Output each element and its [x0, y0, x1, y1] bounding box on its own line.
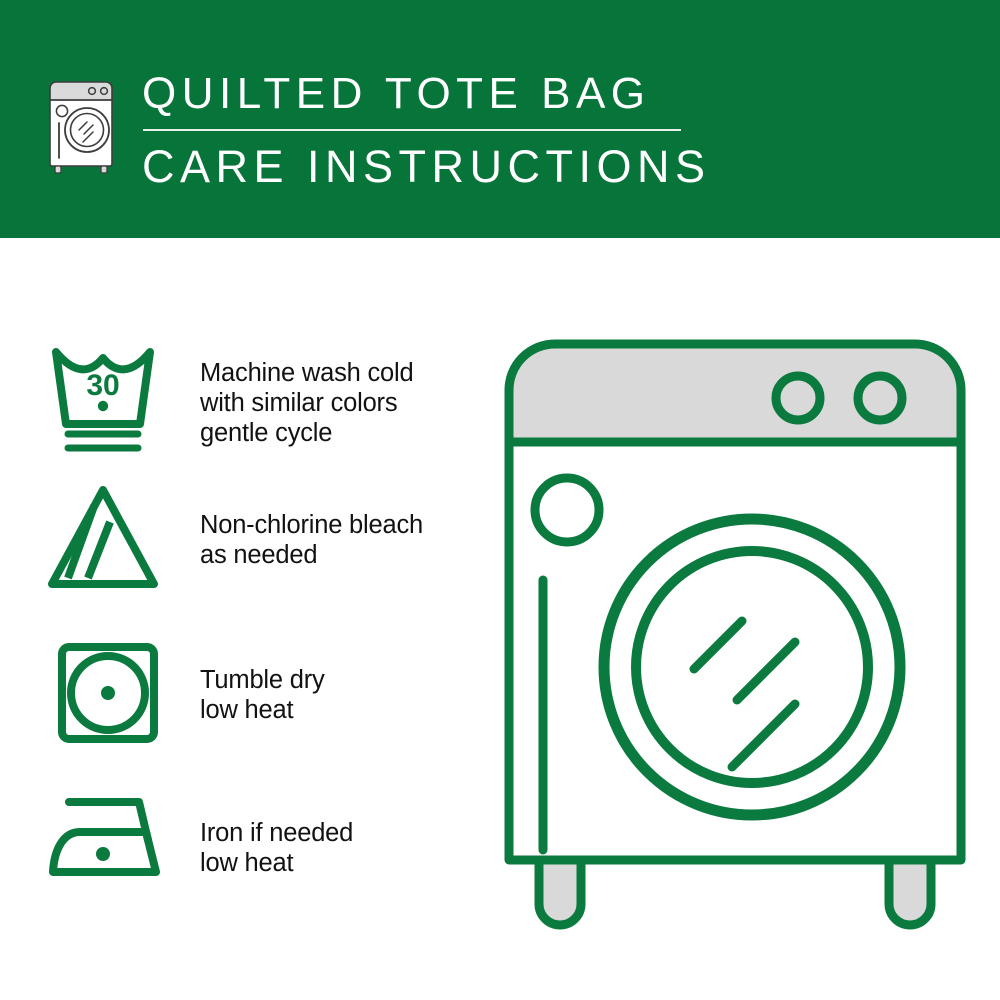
care-symbol-list: 30 Machine wash cold with similar colors…	[0, 238, 500, 1000]
control-panel	[509, 344, 961, 442]
care-line: Tumble dry	[200, 665, 490, 695]
title-divider	[143, 129, 681, 131]
care-line: as needed	[200, 540, 490, 570]
care-line: Non-chlorine bleach	[200, 510, 490, 540]
care-row-bleach: Non-chlorine bleach as needed	[0, 478, 500, 628]
care-text-iron: Iron if needed low heat	[200, 818, 490, 878]
care-row-tumble-dry: Tumble dry low heat	[0, 633, 500, 783]
triangle-non-chlorine-bleach-icon	[44, 478, 174, 598]
tumble-dry-low-heat-icon	[44, 633, 174, 753]
wash-tub-30-gentle-icon: 30	[44, 338, 174, 458]
care-instructions-infographic: QUILTED TOTE BAG CARE INSTRUCTIONS 30 Ma…	[0, 0, 1000, 1000]
machine-leg-right	[889, 860, 931, 925]
care-text-tumble-dry: Tumble dry low heat	[200, 665, 490, 725]
care-row-wash: 30 Machine wash cold with similar colors…	[0, 338, 500, 488]
machine-leg-left	[539, 860, 581, 925]
header-title-group: QUILTED TOTE BAG CARE INSTRUCTIONS	[142, 68, 842, 194]
care-text-bleach: Non-chlorine bleach as needed	[200, 510, 490, 570]
product-title: QUILTED TOTE BAG	[142, 68, 842, 120]
care-line: low heat	[200, 695, 490, 725]
care-text-wash: Machine wash cold with similar colors ge…	[200, 358, 490, 448]
machine-body	[509, 442, 961, 860]
header-banner: QUILTED TOTE BAG CARE INSTRUCTIONS	[0, 0, 1000, 238]
washing-machine-icon	[46, 70, 120, 174]
care-line: gentle cycle	[200, 418, 490, 448]
care-line: Machine wash cold	[200, 358, 490, 388]
wash-temperature-label: 30	[86, 369, 119, 402]
care-line: with similar colors	[200, 388, 490, 418]
care-line: low heat	[200, 848, 490, 878]
front-load-washing-machine-illustration	[495, 330, 975, 930]
page-title: CARE INSTRUCTIONS	[142, 140, 842, 194]
care-line: Iron if needed	[200, 818, 490, 848]
iron-low-heat-icon	[44, 786, 174, 906]
care-row-iron: Iron if needed low heat	[0, 786, 500, 936]
